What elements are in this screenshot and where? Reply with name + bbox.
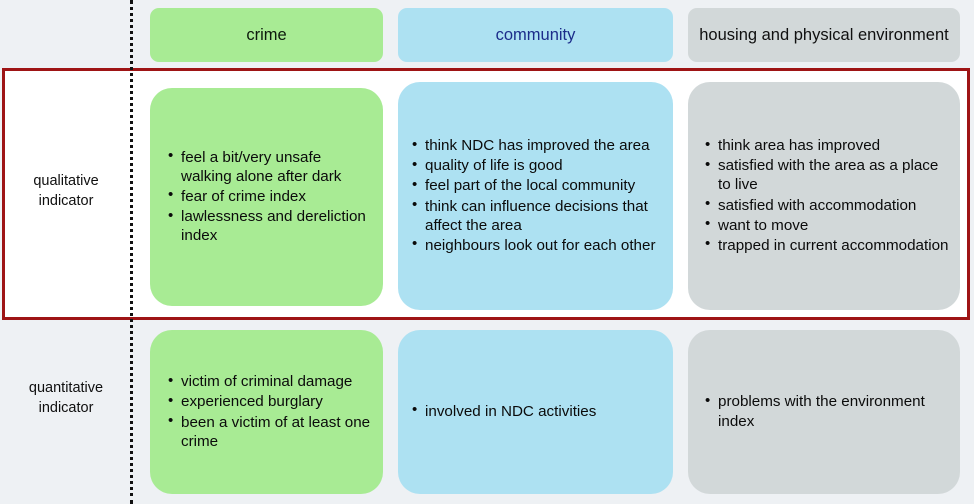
bullet-item: satisfied with the area as a place to li…	[705, 156, 952, 194]
bullet-item: problems with the environment index	[705, 392, 952, 430]
bullet-list: problems with the environment index	[705, 392, 952, 431]
bullet-list: think area has improvedsatisfied with th…	[705, 136, 952, 256]
cell-qualitative-community: think NDC has improved the areaquality o…	[398, 82, 673, 310]
indicator-matrix: qualitative indicator quantitative indic…	[0, 0, 974, 504]
column-header-housing-label: housing and physical environment	[699, 25, 949, 46]
bullet-item: involved in NDC activities	[412, 402, 663, 421]
column-header-crime: crime	[150, 8, 383, 62]
row-label-quantitative-line2: indicator	[6, 399, 126, 419]
bullet-item: satisfied with accommodation	[705, 196, 952, 215]
bullet-item: experienced burglary	[168, 392, 371, 411]
cell-quantitative-community: involved in NDC activities	[398, 330, 673, 494]
column-header-crime-label: crime	[246, 25, 286, 46]
bullet-item: feel a bit/very unsafe walking alone aft…	[168, 148, 371, 186]
cell-quantitative-crime: victim of criminal damageexperienced bur…	[150, 330, 383, 494]
bullet-list: involved in NDC activities	[412, 402, 663, 422]
bullet-item: fear of crime index	[168, 187, 371, 206]
bullet-item: lawlessness and dereliction index	[168, 207, 371, 245]
bullet-list: victim of criminal damageexperienced bur…	[168, 372, 371, 452]
bullet-item: think can influence decisions that affec…	[412, 197, 663, 235]
bullet-item: trapped in current accommodation	[705, 236, 952, 255]
column-header-housing: housing and physical environment	[688, 8, 960, 62]
bullet-item: think area has improved	[705, 136, 952, 155]
bullet-list: think NDC has improved the areaquality o…	[412, 136, 663, 256]
bullet-item: victim of criminal damage	[168, 372, 371, 391]
cell-qualitative-crime: feel a bit/very unsafe walking alone aft…	[150, 88, 383, 306]
bullet-item: been a victim of at least one crime	[168, 413, 371, 451]
column-header-community-label: community	[496, 25, 576, 46]
cell-quantitative-housing: problems with the environment index	[688, 330, 960, 494]
row-label-qualitative: qualitative indicator	[6, 172, 126, 211]
bullet-item: think NDC has improved the area	[412, 136, 663, 155]
cell-qualitative-housing: think area has improvedsatisfied with th…	[688, 82, 960, 310]
bullet-list: feel a bit/very unsafe walking alone aft…	[168, 148, 371, 247]
bullet-item: want to move	[705, 216, 952, 235]
bullet-item: neighbours look out for each other	[412, 236, 663, 255]
bullet-item: quality of life is good	[412, 156, 663, 175]
column-header-community: community	[398, 8, 673, 62]
bullet-item: feel part of the local community	[412, 176, 663, 195]
row-label-qualitative-line1: qualitative	[6, 172, 126, 192]
row-label-quantitative-line1: quantitative	[6, 379, 126, 399]
row-label-divider	[130, 0, 133, 504]
row-label-quantitative: quantitative indicator	[6, 379, 126, 418]
row-label-qualitative-line2: indicator	[6, 192, 126, 212]
